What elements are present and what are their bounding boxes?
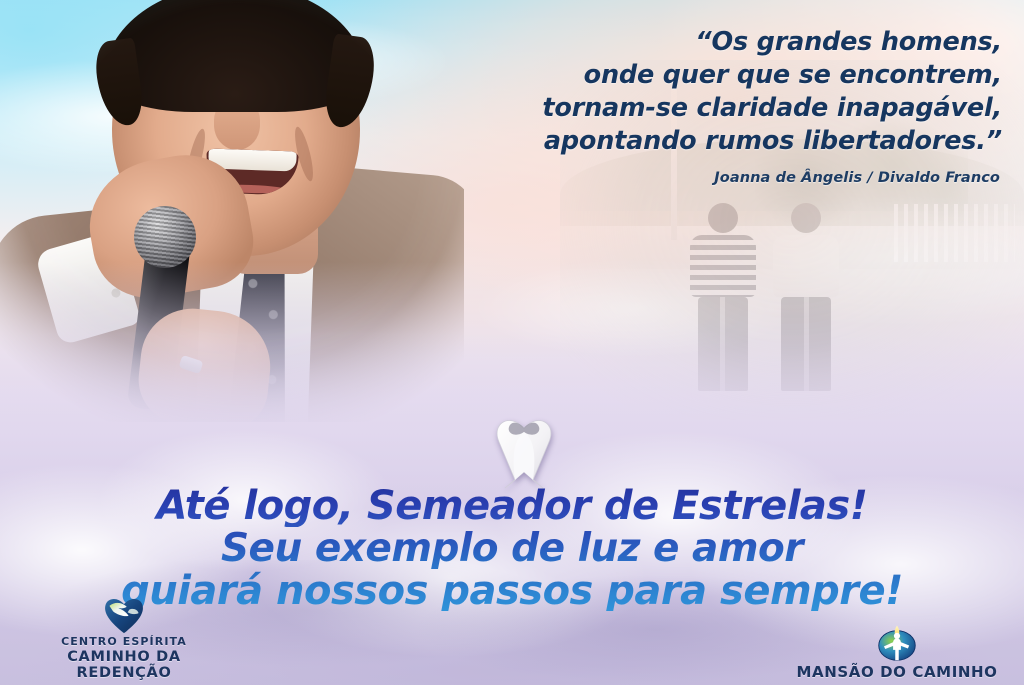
quote-line-4: apontando rumos libertadores.”: [362, 125, 1002, 158]
figure-head: [708, 203, 738, 233]
logo-left-text: CENTRO ESPÍRITA CAMINHO DA REDENÇÃO: [24, 635, 224, 681]
logo-centro-espirita-caminho-da-redencao[interactable]: CENTRO ESPÍRITA CAMINHO DA REDENÇÃO: [24, 595, 224, 681]
portrait-hair: [104, 0, 366, 112]
headline-line-2: Seu exemplo de luz e amor: [0, 529, 1024, 569]
quote-line-2: onde quer que se encontrem,: [362, 59, 1002, 92]
memorial-poster: “Os grandes homens, onde quer que se enc…: [0, 0, 1024, 685]
figure-head: [791, 203, 821, 233]
logo-right-line-2: MANSÃO DO CAMINHO: [796, 663, 997, 681]
quote-line-1: “Os grandes homens,: [362, 26, 1002, 59]
logo-mansao-do-caminho[interactable]: MANSÃO DO CAMINHO: [782, 622, 1012, 681]
white-ribbon-icon: [489, 410, 559, 492]
logo-left-line-2: CAMINHO DA REDENÇÃO: [24, 649, 224, 681]
globe-figure-flame-icon: [876, 622, 918, 662]
logo-left-line-1: CENTRO ESPÍRITA: [24, 635, 224, 648]
bg-photo-fence: [894, 204, 1015, 262]
headline-block: Até logo, Semeador de Estrelas! Seu exem…: [0, 486, 1024, 611]
quote-line-3: tornam-se claridade inapagável,: [362, 92, 1002, 125]
heart-hands-icon: [102, 595, 146, 635]
headline-line-1: Até logo, Semeador de Estrelas!: [0, 486, 1024, 527]
logo-right-text: MANSÃO DO CAMINHO: [796, 662, 997, 681]
figure-torso: [690, 235, 756, 297]
quote-block: “Os grandes homens, onde quer que se enc…: [362, 26, 1002, 159]
figure-torso: [773, 235, 839, 297]
quote-attribution: Joanna de Ângelis / Divaldo Franco: [714, 170, 1000, 186]
